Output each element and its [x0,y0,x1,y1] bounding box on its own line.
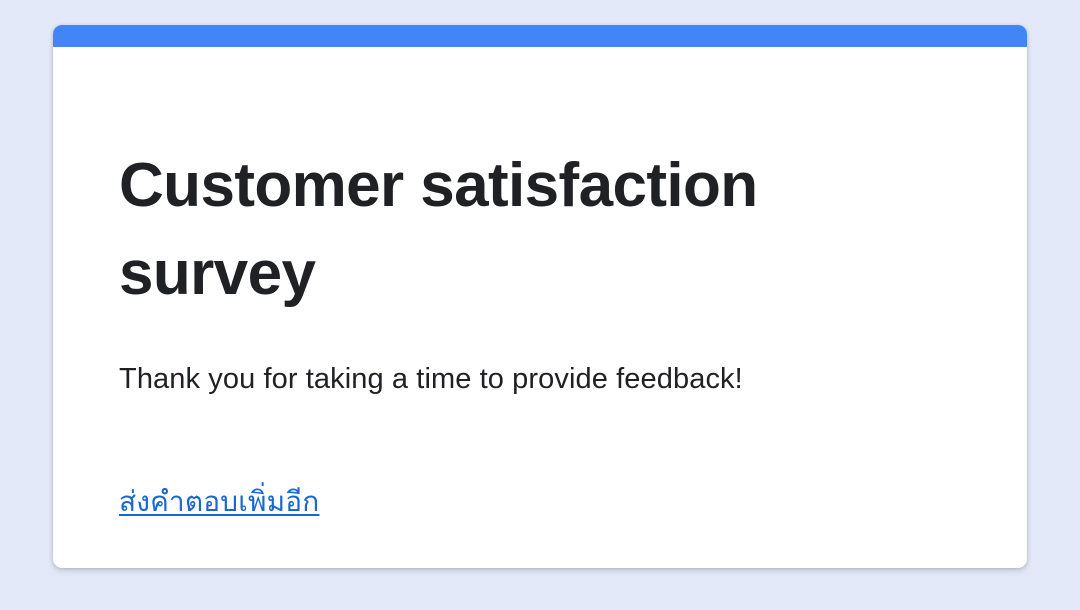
submit-another-response-link[interactable]: ส่งคำตอบเพิ่มอีก [119,482,319,522]
form-confirmation-page: Customer satisfaction survey Thank you f… [0,0,1080,610]
page-title: Customer satisfaction survey [119,142,949,318]
form-confirmation-card: Customer satisfaction survey Thank you f… [53,25,1027,568]
card-body: Customer satisfaction survey Thank you f… [53,47,1027,568]
confirmation-message: Thank you for taking a time to provide f… [119,360,949,398]
resubmit-link-container: ส่งคำตอบเพิ่มอีก [119,482,319,522]
card-accent-bar [53,25,1027,47]
